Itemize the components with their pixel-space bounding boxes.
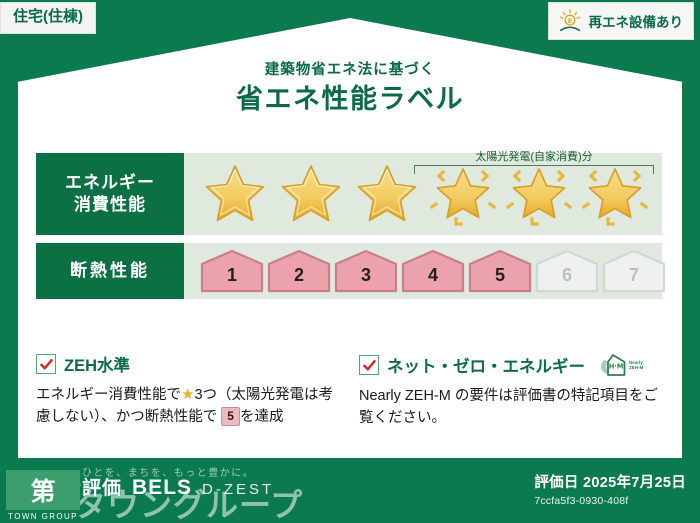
star-icon — [274, 157, 348, 231]
insulation-step-house: 1 — [200, 249, 264, 293]
insulation-row-body: 1 2 3 4 5 — [184, 243, 666, 299]
energy-row-header: エネルギー 消費性能 — [36, 153, 184, 235]
insulation-step-house: 3 — [334, 249, 398, 293]
insulation-step-group: 1 2 3 4 5 — [184, 249, 666, 293]
zeh-m-logo-icon: H·M Nearly ZEH-M — [597, 352, 643, 378]
net-zero-text: Nearly ZEH-M の要件は評価書の特記項目をご覧ください。 — [359, 385, 664, 430]
svg-text:E: E — [567, 17, 571, 25]
label-title: 省エネ性能ラベル — [0, 83, 700, 115]
insulation-step-house: 7 — [602, 249, 666, 293]
zeh-standard-block: ZEH水準 エネルギー消費性能で★3つ（太陽光発電は考慮しない）、かつ断熱性能で… — [36, 352, 341, 430]
zeh-m-caption-line2: ZEH-M — [629, 365, 643, 370]
energy-row-body: 太陽光発電(自家消費)分 — [184, 153, 662, 235]
zest-label: D-ZEST — [202, 481, 274, 498]
net-zero-title: ネット・ゼロ・エネルギー — [387, 353, 585, 377]
star-icon — [350, 157, 424, 231]
footer-right-group: 評価日 2025年7月25日 7ccfa5f3-0930-408f — [534, 471, 686, 507]
building-type-label: 住宅(住棟) — [13, 8, 83, 25]
label-subtitle: 建築物省エネ法に基づく — [0, 62, 700, 79]
energy-header-line2: 消費性能 — [74, 194, 146, 216]
insulation-step-house: 6 — [535, 249, 599, 293]
insulation-header-label: 断熱性能 — [70, 260, 150, 282]
evaluation-id: 7ccfa5f3-0930-408f — [534, 495, 686, 507]
performance-rows: エネルギー 消費性能 — [36, 153, 662, 307]
insulation-performance-row: 断熱性能 1 2 3 — [36, 243, 662, 299]
star-icon-solar — [578, 157, 652, 231]
zeh-standard-text: エネルギー消費性能で★3つ（太陽光発電は考慮しない）、かつ断熱性能で 5を達成 — [36, 383, 341, 429]
sun-solar-icon: E — [557, 8, 583, 34]
svg-text:H·M: H·M — [609, 362, 624, 370]
energy-label-root: 住宅(住棟) E 再エネ設備あり 建築物省エネ法に基づく 省エネ性能ラベル — [0, 0, 700, 523]
net-zero-header: ネット・ゼロ・エネルギー H·M Nearly ZEH-M — [359, 352, 664, 378]
inline-star-icon: ★ — [181, 386, 194, 403]
check-icon — [36, 354, 56, 374]
insulation-step-house: 4 — [401, 249, 465, 293]
energy-header-line1: エネルギー — [65, 172, 155, 194]
title-block: 建築物省エネ法に基づく 省エネ性能ラベル — [0, 62, 700, 116]
zeh-standard-header: ZEH水準 — [36, 352, 341, 376]
star-icon-solar — [426, 157, 500, 231]
star-icon-solar — [502, 157, 576, 231]
bels-label: BELS — [132, 476, 192, 500]
star-rating-group — [184, 157, 652, 231]
footer-left-group: 第三者評価 BELS D-ZEST — [22, 473, 274, 500]
check-icon — [359, 355, 379, 375]
third-party-eval-label: 第三者評価 — [22, 473, 122, 500]
insulation-step-house: 2 — [267, 249, 331, 293]
insulation-step-house: 5 — [468, 249, 532, 293]
star-icon — [198, 157, 272, 231]
evaluation-date: 評価日 2025年7月25日 — [534, 471, 686, 492]
net-zero-energy-block: ネット・ゼロ・エネルギー H·M Nearly ZEH-M Nearly ZEH… — [359, 352, 664, 430]
insulation-level-chip: 5 — [221, 407, 240, 425]
renewable-badge-label: 再エネ設備あり — [589, 11, 684, 31]
zeh-text-part3: を達成 — [240, 409, 284, 425]
energy-performance-row: エネルギー 消費性能 — [36, 153, 662, 235]
zeh-standard-title: ZEH水準 — [64, 352, 130, 376]
footer-bar: 第三者評価 BELS D-ZEST 評価日 2025年7月25日 7ccfa5f… — [0, 459, 700, 523]
renewable-equipment-badge: E 再エネ設備あり — [548, 2, 695, 40]
zeh-text-part1: エネルギー消費性能で — [36, 387, 181, 403]
insulation-row-header: 断熱性能 — [36, 243, 184, 299]
certification-info-area: ZEH水準 エネルギー消費性能で★3つ（太陽光発電は考慮しない）、かつ断熱性能で… — [36, 352, 664, 430]
building-type-tag: 住宅(住棟) — [0, 2, 96, 34]
